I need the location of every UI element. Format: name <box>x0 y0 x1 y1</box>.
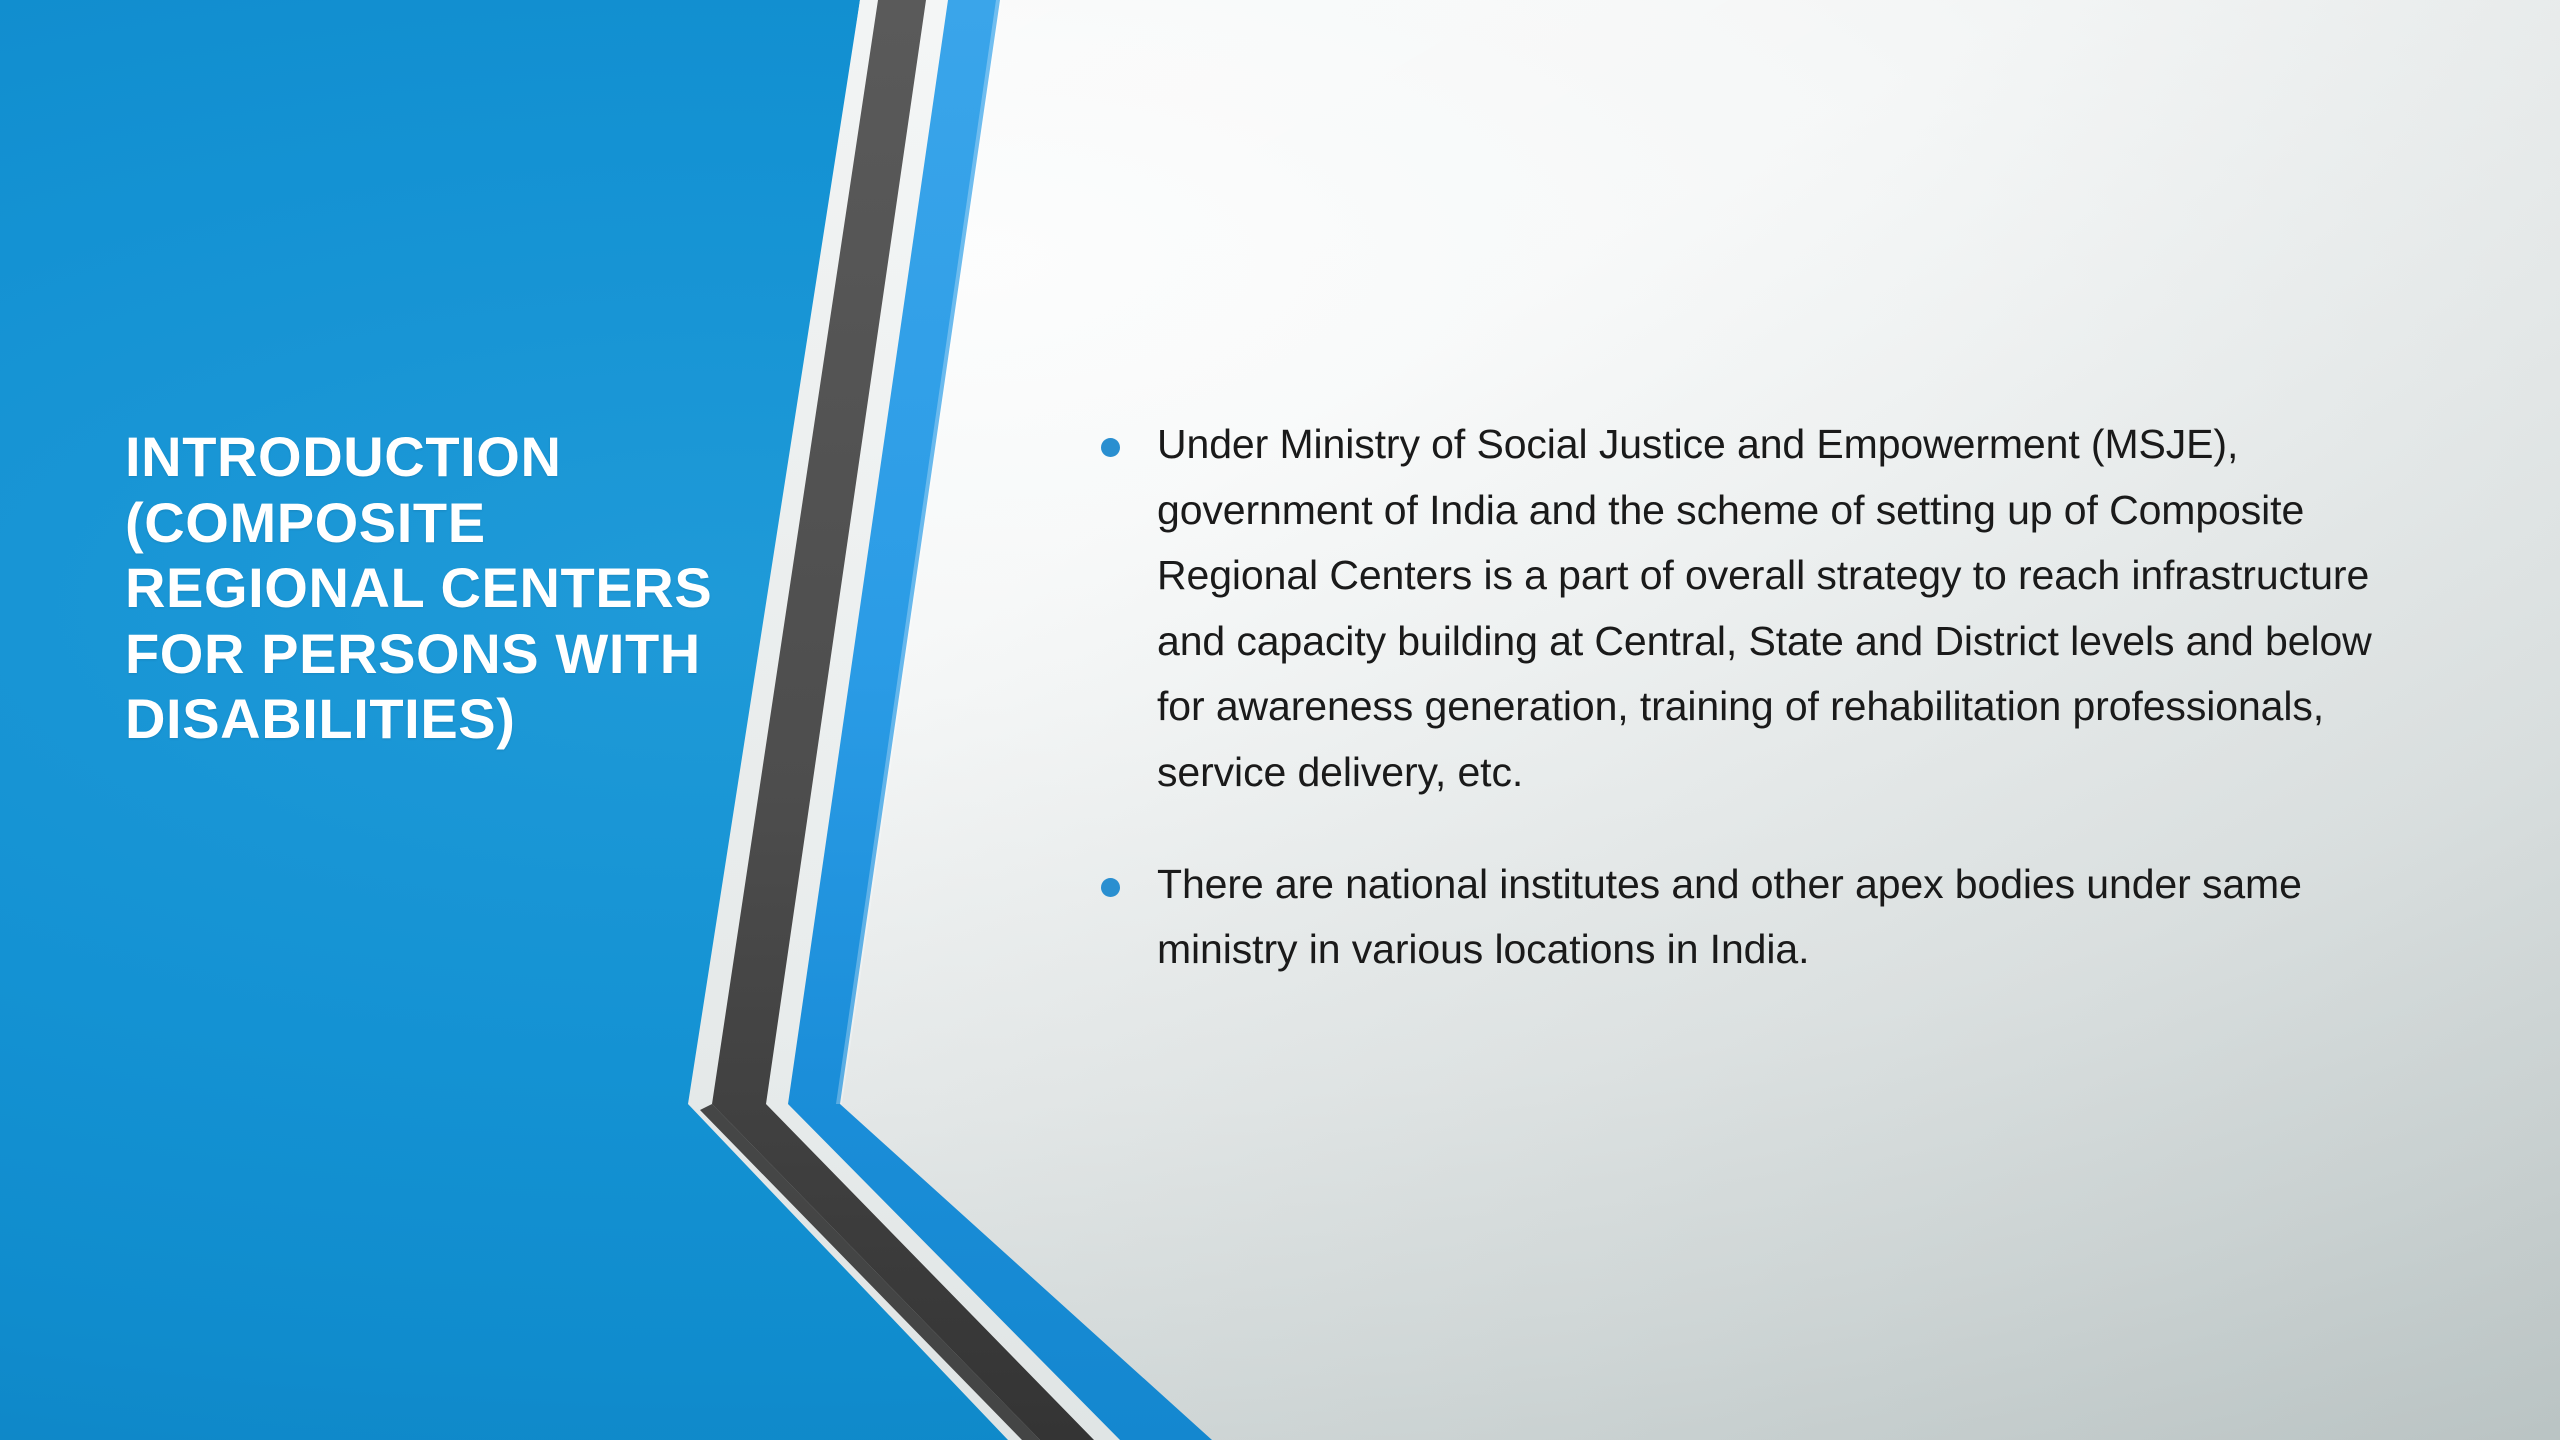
presentation-slide: INTRODUCTION (COMPOSITE REGIONAL CENTERS… <box>0 0 2560 1440</box>
bullet-item-text: There are national institutes and other … <box>1157 852 2415 983</box>
slide-title: INTRODUCTION (COMPOSITE REGIONAL CENTERS… <box>125 424 725 752</box>
bullet-dot-icon <box>1101 438 1120 457</box>
bullet-list-item: Under Ministry of Social Justice and Emp… <box>1095 412 2415 806</box>
bullet-item-text: Under Ministry of Social Justice and Emp… <box>1157 412 2415 806</box>
bullet-dot-icon <box>1101 878 1120 897</box>
bullet-list-item: There are national institutes and other … <box>1095 852 2415 983</box>
slide-body-content: Under Ministry of Social Justice and Emp… <box>1095 412 2415 983</box>
